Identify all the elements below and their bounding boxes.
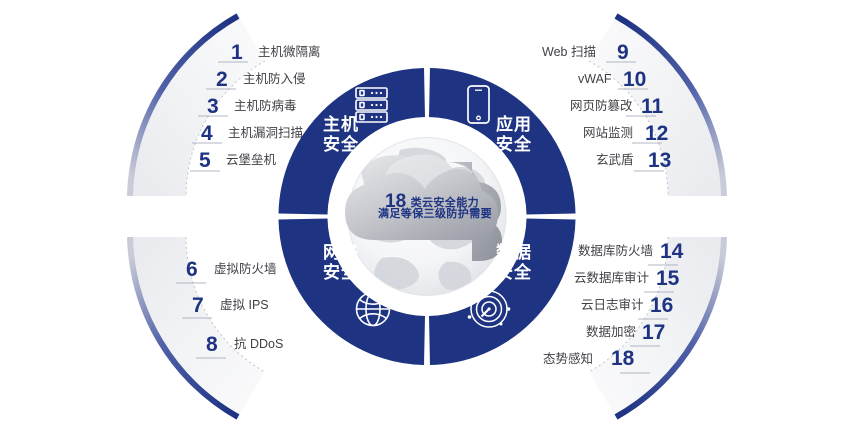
item-label: 网页防篡改 <box>570 100 633 113</box>
item-label: 数据库防火墙 <box>578 245 653 258</box>
quadrant-label-line1: 应用 <box>483 115 545 135</box>
item-number: 13 <box>648 150 671 171</box>
item-label: 网站监测 <box>583 127 633 140</box>
item-number: 1 <box>231 42 243 63</box>
item-label: 数据加密 <box>586 326 636 339</box>
quadrant-label-line2: 安全 <box>310 263 372 283</box>
item-number: 14 <box>660 241 683 262</box>
item-number: 15 <box>656 268 679 289</box>
item-number: 8 <box>206 334 218 355</box>
cloud-subline: 满足等保三级防护需要 <box>378 209 492 220</box>
item-number: 12 <box>645 123 668 144</box>
item-label: 态势感知 <box>543 353 593 366</box>
item-number: 9 <box>617 42 629 63</box>
item-label: 主机漏洞扫描 <box>228 127 303 140</box>
item-label: 虚拟 IPS <box>220 299 269 312</box>
item-label: 主机防入侵 <box>243 73 306 86</box>
item-label: 虚拟防火墙 <box>214 263 277 276</box>
quadrant-label-application-security: 应用 安全 <box>483 115 545 155</box>
quadrant-label-host-security: 主机 安全 <box>310 115 372 155</box>
item-number: 4 <box>201 123 213 144</box>
item-label: 玄武盾 <box>596 154 634 167</box>
quadrant-label-data-security: 数据 安全 <box>483 243 545 283</box>
item-label: 抗 DDoS <box>234 338 283 351</box>
item-number: 18 <box>611 348 634 369</box>
quadrant-label-line1: 网络 <box>310 243 372 263</box>
item-number: 10 <box>623 69 646 90</box>
item-number: 11 <box>641 96 663 117</box>
item-number: 7 <box>192 295 204 316</box>
item-label: Web 扫描 <box>542 46 596 59</box>
quadrant-label-line2: 安全 <box>483 135 545 155</box>
item-label: 主机防病毒 <box>234 100 297 113</box>
item-number: 3 <box>207 96 219 117</box>
item-label: vWAF <box>578 73 612 86</box>
item-label: 主机微隔离 <box>258 46 321 59</box>
quadrant-label-line2: 安全 <box>310 135 372 155</box>
quadrant-label-network-security: 网络 安全 <box>310 243 372 283</box>
quadrant-label-line1: 数据 <box>483 243 545 263</box>
item-number: 6 <box>186 259 198 280</box>
item-label: 云日志审计 <box>581 299 644 312</box>
item-number: 16 <box>650 295 673 316</box>
item-label: 云堡垒机 <box>226 154 276 167</box>
item-number: 5 <box>199 150 211 171</box>
quadrant-label-line2: 安全 <box>483 263 545 283</box>
item-number: 2 <box>216 69 228 90</box>
infographic-canvas: 主机 安全 应用 安全 网络 安全 数据 安全 18 类云安全能力 满足等保三级… <box>0 0 854 433</box>
item-number: 17 <box>642 322 665 343</box>
quadrant-label-line1: 主机 <box>310 115 372 135</box>
item-label: 云数据库审计 <box>574 272 649 285</box>
